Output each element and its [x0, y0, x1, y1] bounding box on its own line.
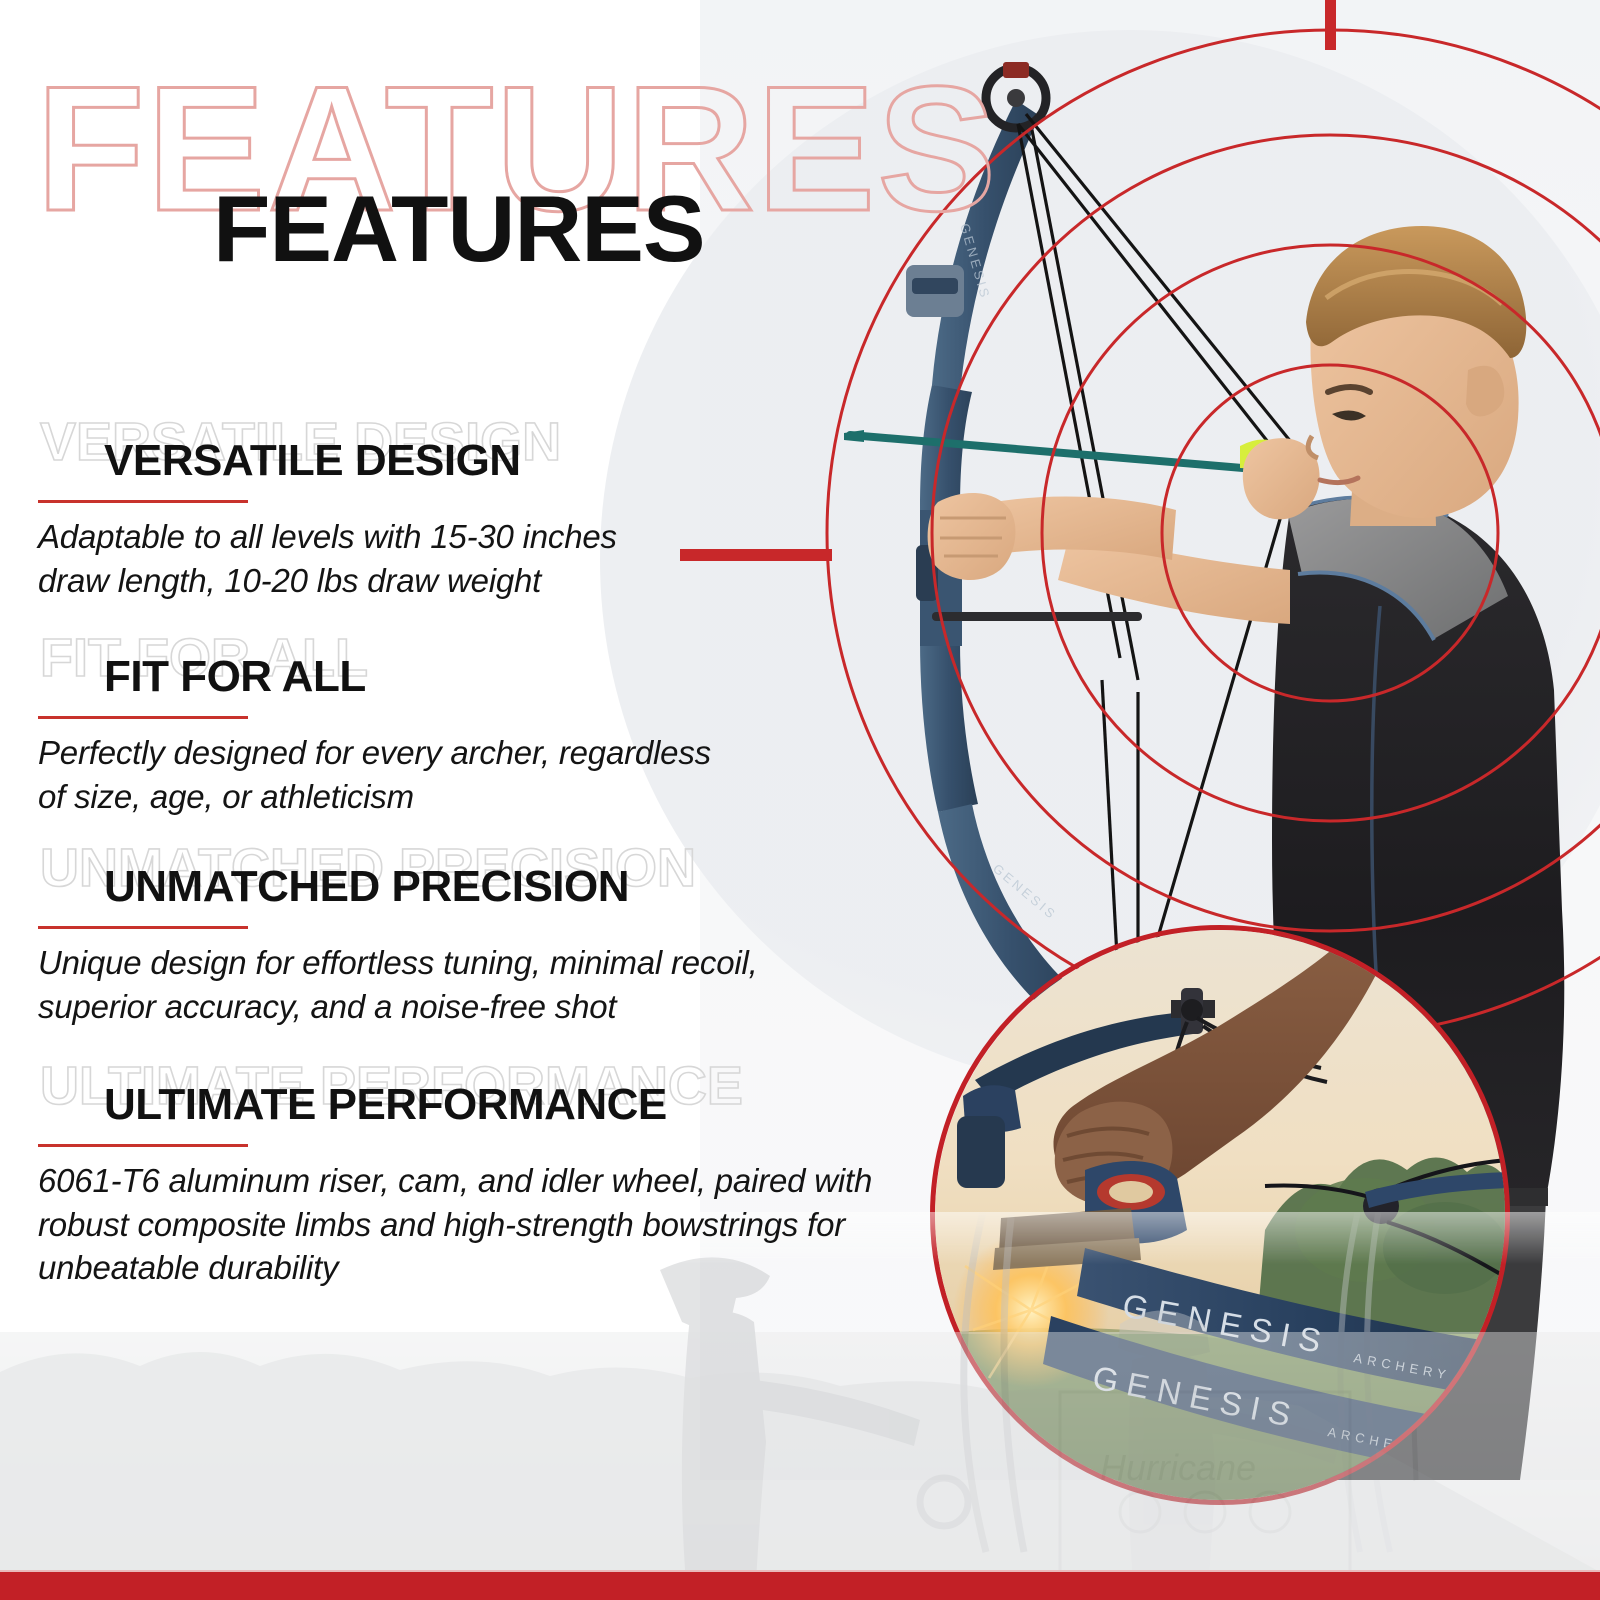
feature-item-fit-for-all: FIT FOR ALL FIT FOR ALL Perfectly design… — [0, 631, 900, 841]
bottom-red-bar — [0, 1572, 1600, 1600]
feature-underline — [38, 500, 248, 503]
feature-underline — [38, 1144, 248, 1147]
feature-list: VERSATILE DESIGN VERSATILE DESIGN Adapta… — [0, 415, 900, 1319]
feature-underline — [38, 926, 248, 929]
feature-heading: FIT FOR ALL — [104, 655, 366, 699]
feature-underline — [38, 716, 248, 719]
feature-body: Perfectly designed for every archer, reg… — [38, 731, 711, 818]
feature-body: 6061-T6 aluminum riser, cam, and idler w… — [38, 1159, 872, 1290]
page-title: FEATURES — [213, 182, 705, 276]
poster-canvas: GENESIS GENESIS — [0, 0, 1600, 1600]
feature-body: Adaptable to all levels with 15-30 inche… — [38, 515, 617, 602]
feature-item-versatile-design: VERSATILE DESIGN VERSATILE DESIGN Adapta… — [0, 415, 900, 631]
feature-body: Unique design for effortless tuning, min… — [38, 941, 758, 1028]
feature-heading: ULTIMATE PERFORMANCE — [104, 1083, 667, 1127]
feature-heading: UNMATCHED PRECISION — [104, 865, 629, 909]
header: FEATURES FEATURES — [0, 0, 800, 330]
target-bag-label: Hurricane — [1100, 1447, 1256, 1488]
feature-heading: VERSATILE DESIGN — [104, 439, 521, 483]
feature-item-unmatched-precision: UNMATCHED PRECISION UNMATCHED PRECISION … — [0, 841, 900, 1059]
feature-item-ultimate-performance: ULTIMATE PERFORMANCE ULTIMATE PERFORMANC… — [0, 1059, 900, 1319]
